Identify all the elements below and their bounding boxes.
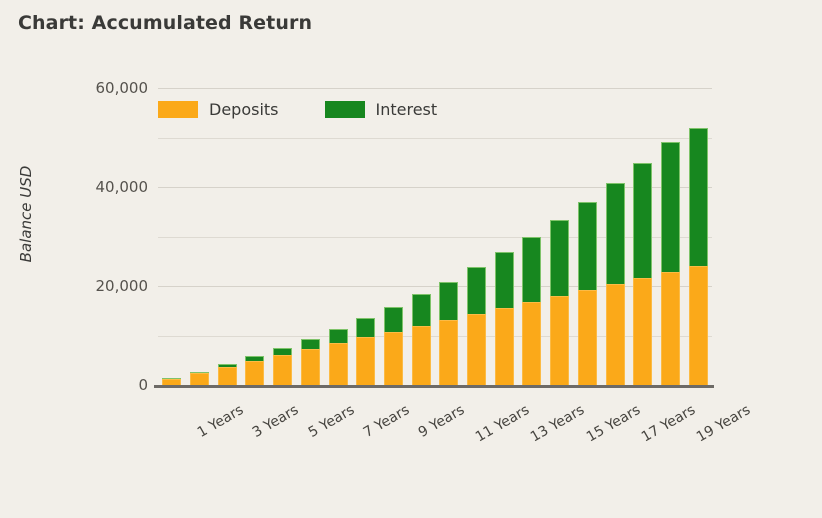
- bar-segment-deposits[interactable]: [190, 373, 209, 385]
- bar-segment-deposits[interactable]: [661, 272, 680, 385]
- bar-group[interactable]: [689, 128, 708, 385]
- legend-label: Deposits: [209, 100, 279, 119]
- x-axis-tick-label: 17 Years: [639, 402, 698, 445]
- bar-segment-interest[interactable]: [633, 163, 652, 278]
- x-axis-tick-label: 1 Years: [195, 402, 247, 441]
- x-axis-tick-labels: 1 Years3 Years5 Years7 Years9 Years11 Ye…: [0, 396, 822, 486]
- x-axis-tick-label: 15 Years: [584, 402, 643, 445]
- bar-segment-deposits[interactable]: [412, 326, 431, 385]
- bar-segment-interest[interactable]: [329, 329, 348, 344]
- bar-segment-interest[interactable]: [522, 237, 541, 302]
- x-axis-tick-label: 3 Years: [250, 402, 302, 441]
- bar-group[interactable]: [661, 142, 680, 385]
- x-axis-tick-label: 9 Years: [416, 402, 468, 441]
- y-axis-tick-label: 20,000: [28, 277, 148, 295]
- bar-group[interactable]: [162, 378, 181, 385]
- x-axis-tick-label: 13 Years: [528, 402, 587, 445]
- x-axis-tick-label: 5 Years: [305, 402, 357, 441]
- x-axis-line: [154, 385, 714, 388]
- bar-segment-deposits[interactable]: [522, 302, 541, 385]
- bar-segment-interest[interactable]: [356, 318, 375, 337]
- bar-segment-deposits[interactable]: [329, 343, 348, 385]
- bar-group[interactable]: [301, 339, 320, 386]
- bar-group[interactable]: [439, 282, 458, 385]
- plot-area: [158, 88, 712, 385]
- bar-group[interactable]: [356, 318, 375, 385]
- bar-segment-deposits[interactable]: [467, 314, 486, 385]
- bar-segment-deposits[interactable]: [218, 367, 237, 385]
- bar-segment-deposits[interactable]: [301, 349, 320, 385]
- bar-segment-deposits[interactable]: [495, 308, 514, 385]
- bar-segment-deposits[interactable]: [550, 296, 569, 385]
- bar-group[interactable]: [273, 348, 292, 385]
- bar-group[interactable]: [384, 307, 403, 385]
- bar-group[interactable]: [412, 294, 431, 385]
- bar-segment-interest[interactable]: [412, 294, 431, 325]
- bar-group[interactable]: [467, 267, 486, 385]
- y-axis-tick-label: 40,000: [28, 178, 148, 196]
- bar-segment-interest[interactable]: [578, 202, 597, 290]
- bar-segment-deposits[interactable]: [689, 266, 708, 385]
- bar-group[interactable]: [218, 364, 237, 385]
- bar-group[interactable]: [495, 252, 514, 385]
- legend-item[interactable]: Deposits: [158, 100, 279, 119]
- bar-group[interactable]: [245, 356, 264, 385]
- legend-item[interactable]: Interest: [325, 100, 438, 119]
- bar-group[interactable]: [633, 163, 652, 385]
- bar-segment-interest[interactable]: [550, 220, 569, 296]
- bar-segment-deposits[interactable]: [356, 337, 375, 385]
- y-axis-tick-label: 0: [28, 376, 148, 394]
- bar-segment-interest[interactable]: [301, 339, 320, 350]
- bar-segment-interest[interactable]: [689, 128, 708, 267]
- bar-segment-interest[interactable]: [273, 348, 292, 355]
- bar-segment-deposits[interactable]: [578, 290, 597, 385]
- bar-segment-interest[interactable]: [661, 142, 680, 272]
- bar-group[interactable]: [522, 237, 541, 385]
- bar-group[interactable]: [550, 220, 569, 385]
- bar-segment-interest[interactable]: [439, 282, 458, 320]
- bar-segment-deposits[interactable]: [606, 284, 625, 385]
- y-axis-title: Balance USD: [17, 154, 35, 274]
- bar-segment-deposits[interactable]: [633, 278, 652, 385]
- y-axis-tick-label: 60,000: [28, 79, 148, 97]
- bar-segment-interest[interactable]: [606, 183, 625, 284]
- bar-group[interactable]: [578, 202, 597, 385]
- legend-swatch-icon: [325, 101, 365, 118]
- bar-group[interactable]: [606, 183, 625, 385]
- bar-segment-deposits[interactable]: [273, 355, 292, 385]
- legend-label: Interest: [376, 100, 438, 119]
- bar-segment-interest[interactable]: [467, 267, 486, 314]
- chart-container: Chart: Accumulated Return 020,00040,0006…: [0, 0, 822, 518]
- bar-segment-deposits[interactable]: [439, 320, 458, 385]
- legend-swatch-icon: [158, 101, 198, 118]
- bar-group[interactable]: [190, 372, 209, 385]
- bar-segment-deposits[interactable]: [245, 361, 264, 385]
- bar-segment-interest[interactable]: [495, 252, 514, 307]
- x-axis-tick-label: 11 Years: [473, 402, 532, 445]
- bar-segment-interest[interactable]: [384, 307, 403, 332]
- bar-segment-deposits[interactable]: [384, 332, 403, 385]
- x-axis-tick-label: 7 Years: [361, 402, 413, 441]
- bar-group[interactable]: [329, 329, 348, 385]
- x-axis-tick-label: 19 Years: [694, 402, 753, 445]
- chart-legend: DepositsInterest: [158, 100, 483, 119]
